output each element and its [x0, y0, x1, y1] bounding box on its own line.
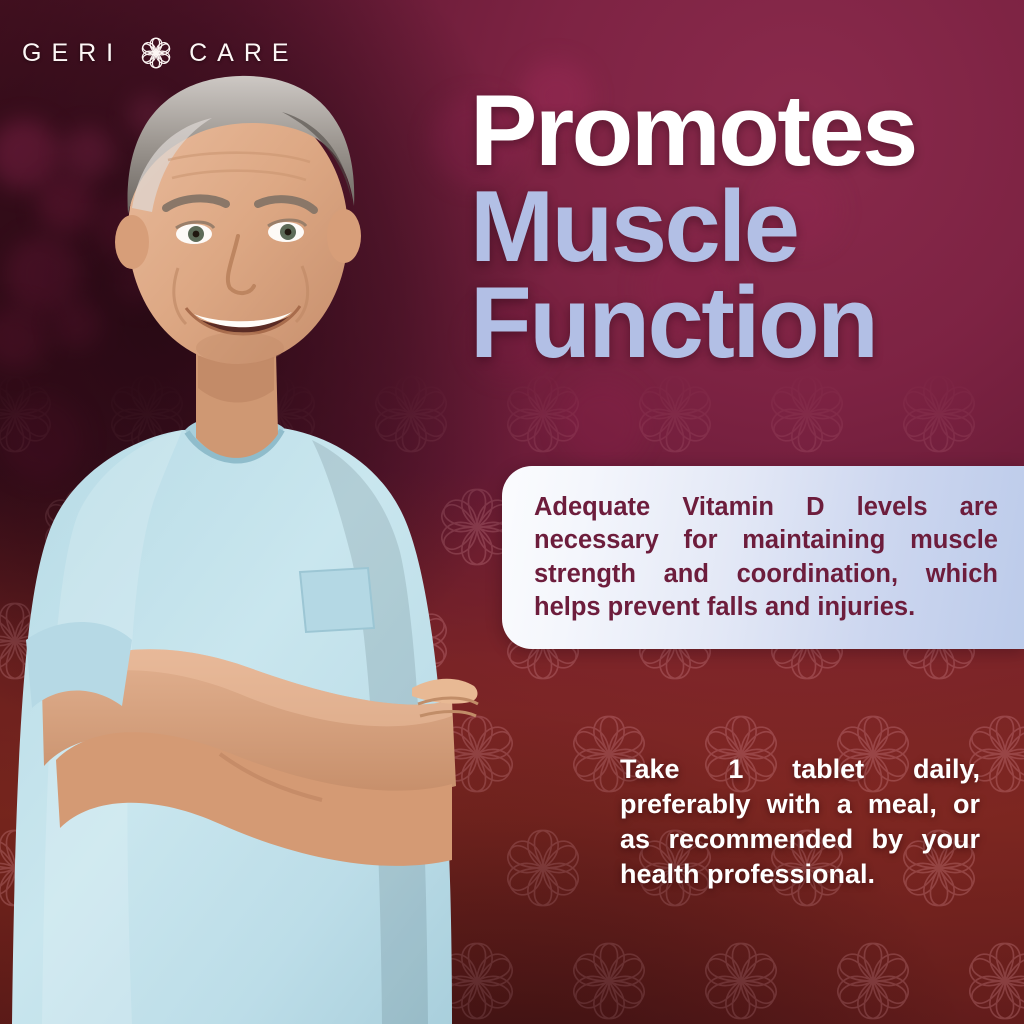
info-panel: AdequateVitaminDlevelsare necessaryforma…: [502, 466, 1024, 649]
brand-logo[interactable]: GERI CARE: [22, 26, 299, 80]
subject-photo-man: [0, 0, 542, 1024]
advertisement-canvas: GERI CARE Promotes Muscle Function: [0, 0, 1024, 1024]
info-panel-text: AdequateVitaminDlevelsare necessaryforma…: [502, 491, 1024, 624]
flower-petal-icon: [129, 26, 183, 80]
info-line-2: necessaryformaintainingmuscle: [534, 524, 998, 557]
info-line-3: strengthandcoordination,which: [534, 558, 998, 591]
headline-line-2: Muscle: [470, 180, 1015, 276]
dosage-instructions: Take1tabletdaily, preferablywithameal,or…: [620, 752, 980, 892]
info-line-4: helps prevent falls and injuries.: [534, 591, 998, 624]
headline-line-1: Promotes: [470, 84, 1015, 180]
headline-line-3: Function: [470, 276, 1015, 372]
headline: Promotes Muscle Function: [470, 84, 1015, 372]
dosage-line-3: asrecommendedbyyour: [620, 822, 980, 857]
brand-word-geri: GERI: [22, 41, 123, 66]
info-line-1: AdequateVitaminDlevelsare: [534, 491, 998, 524]
dosage-line-1: Take1tabletdaily,: [620, 752, 980, 787]
dosage-line-4: health professional.: [620, 857, 980, 892]
dosage-line-2: preferablywithameal,or: [620, 787, 980, 822]
brand-word-care: CARE: [189, 41, 298, 66]
